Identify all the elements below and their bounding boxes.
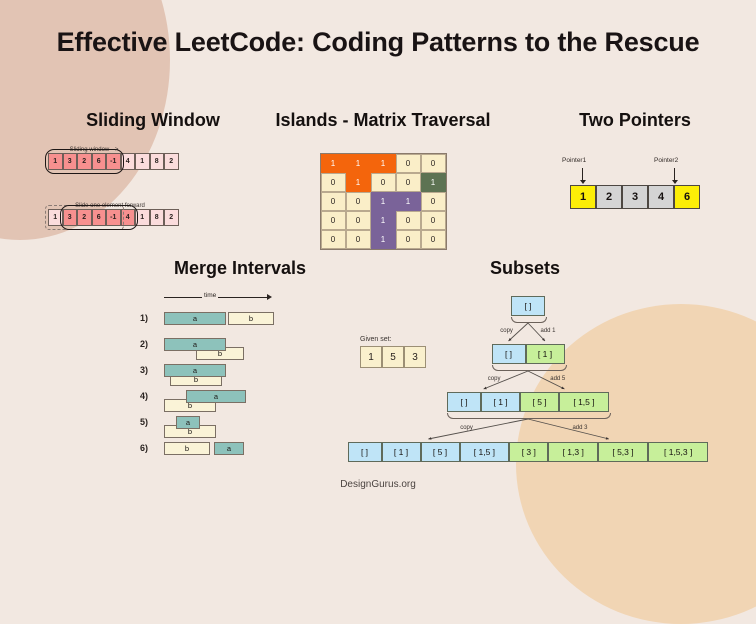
islands-matrix-cell: 0 xyxy=(421,211,446,230)
sliding-window-box-1 xyxy=(45,149,124,174)
subsets-brace xyxy=(511,317,547,323)
islands-matrix-cell: 1 xyxy=(346,154,371,173)
islands-matrix-cell: 1 xyxy=(421,173,446,192)
merge-intervals-title: Merge Intervals xyxy=(120,258,360,279)
subset-node: [ ] xyxy=(447,392,481,412)
infographic-stage: Effective LeetCode: Coding Patterns to t… xyxy=(0,0,756,504)
islands-matrix-cell: 0 xyxy=(421,192,446,211)
subsets-edge-arrowhead xyxy=(428,437,431,440)
subsets-edge xyxy=(428,419,528,439)
islands-matrix-cell: 0 xyxy=(346,211,371,230)
merge-interval-case: 4)ba xyxy=(120,387,360,413)
two-pointers-cell: 4 xyxy=(648,185,674,209)
subsets-edge-label: copy xyxy=(460,425,473,431)
merge-interval-case-number: 1) xyxy=(140,313,148,323)
islands-title: Islands - Matrix Traversal xyxy=(258,110,508,131)
merge-interval-case-number: 5) xyxy=(140,417,148,427)
subsets-edge-label: add 1 xyxy=(541,328,556,334)
footer-brand: DesignGurus.org xyxy=(0,479,756,490)
subsets-brace xyxy=(492,365,567,371)
two-pointers-cell: 3 xyxy=(622,185,648,209)
islands-matrix-cell: 1 xyxy=(371,230,396,249)
two-pointers-cell: 2 xyxy=(596,185,622,209)
subset-node: [ 1,5 ] xyxy=(460,442,510,462)
merge-interval-bar-a: a xyxy=(164,338,226,351)
subset-node: [ 1,5,3 ] xyxy=(648,442,709,462)
merge-interval-bar-b: b xyxy=(164,442,210,455)
islands-matrix-row: 01001 xyxy=(321,173,446,192)
subset-node: [ ] xyxy=(348,442,382,462)
subset-node: [ 1 ] xyxy=(481,392,520,412)
subset-node: [ 5 ] xyxy=(421,442,460,462)
merge-interval-case-number: 3) xyxy=(140,365,148,375)
merge-interval-bar-b: b xyxy=(228,312,274,325)
subset-node: [ ] xyxy=(511,296,545,316)
pointer1-arrowhead xyxy=(580,180,586,184)
sliding-window-cell: 1 xyxy=(135,153,150,170)
subset-node: [ 1 ] xyxy=(526,344,565,364)
islands-matrix-row: 00100 xyxy=(321,211,446,230)
two-pointers-cell: 6 xyxy=(674,185,700,209)
subsets-edge-label: add 5 xyxy=(550,376,565,382)
subset-node: [ 1,5 ] xyxy=(559,392,609,412)
sliding-window-box-2 xyxy=(60,205,139,230)
merge-interval-bar-a: a xyxy=(176,416,200,429)
merge-interval-case: 6)ba xyxy=(120,439,360,465)
merge-interval-case-number: 2) xyxy=(140,339,148,349)
islands-matrix-cell: 0 xyxy=(396,154,421,173)
islands-matrix: 1110001001001100010000100 xyxy=(320,153,447,250)
islands-matrix-cell: 0 xyxy=(421,154,446,173)
subsets-level: [ ][ 1 ][ 5 ][ 1,5 ] xyxy=(447,392,609,412)
two-pointers-cell: 1 xyxy=(570,185,596,209)
section-merge-intervals: Merge Intervals time 1)ba2)ba3)ba4)ba5)b… xyxy=(120,258,360,465)
islands-matrix-cell: 1 xyxy=(371,154,396,173)
subset-node: [ 5,3 ] xyxy=(598,442,648,462)
islands-matrix-row: 00100 xyxy=(321,230,446,249)
sliding-window-title: Sliding Window xyxy=(38,110,268,131)
islands-matrix-cell: 0 xyxy=(421,230,446,249)
time-axis-label: time xyxy=(202,292,218,299)
subsets-edge xyxy=(528,419,609,439)
subsets-title: Subsets xyxy=(360,258,690,279)
subsets-edge-label: copy xyxy=(488,376,501,382)
islands-matrix-cell: 0 xyxy=(396,211,421,230)
pointer2-label: Pointer2 xyxy=(654,157,678,164)
subset-node: [ 5 ] xyxy=(520,392,559,412)
subsets-level: [ ] xyxy=(511,296,545,316)
subsets-level: [ ][ 1 ] xyxy=(492,344,565,364)
section-sliding-window: Sliding Window Sliding window --> 1326-1… xyxy=(38,110,268,237)
subset-node: [ ] xyxy=(492,344,526,364)
sliding-window-row-2: Slide one element forward 1326-14182 xyxy=(38,203,268,237)
subsets-level: [ ][ 1 ][ 5 ][ 1,5 ][ 3 ][ 1,3 ][ 5,3 ][… xyxy=(348,442,709,462)
merge-interval-case: 5)ba xyxy=(120,413,360,439)
sliding-window-cell: 8 xyxy=(150,209,165,226)
sliding-window-cell: 2 xyxy=(164,209,179,226)
islands-matrix-cell: 0 xyxy=(396,173,421,192)
page-title: Effective LeetCode: Coding Patterns to t… xyxy=(0,27,756,58)
section-two-pointers: Two Pointers Pointer1 Pointer2 12346 xyxy=(520,110,750,209)
merge-interval-bar-a: a xyxy=(214,442,244,455)
merge-interval-case: 1)ba xyxy=(120,309,360,335)
islands-matrix-cell: 0 xyxy=(321,211,346,230)
merge-interval-case-number: 6) xyxy=(140,443,148,453)
merge-interval-bar-a: a xyxy=(186,390,246,403)
sliding-window-cell: 8 xyxy=(150,153,165,170)
islands-matrix-cell: 1 xyxy=(371,192,396,211)
islands-matrix-cell: 1 xyxy=(346,173,371,192)
pointer1-label: Pointer1 xyxy=(562,157,586,164)
islands-matrix-cell: 1 xyxy=(321,154,346,173)
merge-interval-case: 3)ba xyxy=(120,361,360,387)
merge-interval-case: 2)ba xyxy=(120,335,360,361)
sliding-window-row-1: Sliding window --> 1326-14182 xyxy=(38,147,268,181)
merge-intervals-time-axis: time xyxy=(164,293,274,303)
islands-matrix-cell: 1 xyxy=(396,192,421,211)
islands-matrix-row: 00110 xyxy=(321,192,446,211)
islands-matrix-cell: 0 xyxy=(346,192,371,211)
islands-matrix-cell: 0 xyxy=(321,192,346,211)
subsets-brace xyxy=(447,413,611,419)
subset-node: [ 1 ] xyxy=(382,442,421,462)
subsets-edge-label: copy xyxy=(500,328,513,334)
subsets-edge-label: add 3 xyxy=(572,425,587,431)
islands-matrix-cell: 0 xyxy=(396,230,421,249)
subsets-tree: [ ][ ][ 1 ][ ][ 1 ][ 5 ][ 1,5 ][ ][ 1 ][… xyxy=(400,292,700,472)
merge-intervals-cases: 1)ba2)ba3)ba4)ba5)ba6)ba xyxy=(120,309,360,465)
given-set-cell: 1 xyxy=(360,346,382,368)
merge-interval-bar-a: a xyxy=(164,312,226,325)
section-islands: Islands - Matrix Traversal 1110001001001… xyxy=(258,110,508,250)
islands-matrix-cell: 0 xyxy=(371,173,396,192)
subset-node: [ 1,3 ] xyxy=(548,442,598,462)
sliding-window-cell: 2 xyxy=(164,153,179,170)
time-axis-arrowhead xyxy=(267,294,272,300)
two-pointers-array: 12346 xyxy=(570,185,700,209)
islands-matrix-cell: 0 xyxy=(321,173,346,192)
merge-interval-bar-a: a xyxy=(164,364,226,377)
islands-matrix-row: 11100 xyxy=(321,154,446,173)
islands-matrix-cell: 0 xyxy=(321,230,346,249)
merge-interval-case-number: 4) xyxy=(140,391,148,401)
two-pointers-title: Two Pointers xyxy=(520,110,750,131)
subset-node: [ 3 ] xyxy=(509,442,548,462)
pointer2-arrowhead xyxy=(672,180,678,184)
islands-matrix-cell: 1 xyxy=(371,211,396,230)
islands-matrix-cell: 0 xyxy=(346,230,371,249)
two-pointers-diagram: Pointer1 Pointer2 12346 xyxy=(565,157,705,209)
section-subsets: Subsets Given set: 153 [ ][ ][ 1 ][ ][ 1… xyxy=(360,258,690,279)
